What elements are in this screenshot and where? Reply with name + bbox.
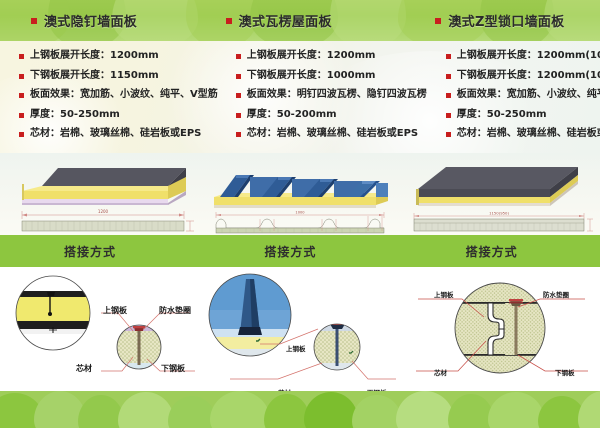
bullet-square-icon xyxy=(19,113,24,118)
footer-leaf-band xyxy=(0,391,600,428)
product-figure-2: 1000 xyxy=(200,153,400,235)
detail-diagram-2 xyxy=(200,267,400,391)
bullet-square-icon xyxy=(446,132,451,137)
label-lower-plate-1: 下钢板 xyxy=(161,363,185,374)
bullet-square-icon xyxy=(236,54,241,59)
spec-item: 上钢板展开长度：1200mm(1000mm) xyxy=(446,48,600,63)
product-title-3: 澳式Z型锁口墙面板 xyxy=(448,11,564,30)
bullet-square-icon xyxy=(446,113,451,118)
spec-text: 板面效果：宽加筋、小波纹、纯平、V型筋 xyxy=(30,87,218,102)
spec-text: 芯材：岩棉、玻璃丝棉、硅岩板或EPS xyxy=(247,126,418,141)
label-washer-3: 防水垫圈 xyxy=(543,289,569,299)
spec-item: 板面效果：宽加筋、小波纹、纯平、V型筋 xyxy=(19,87,218,102)
spec-item: 板面效果：宽加筋、小波纹、纯平、V型筋 xyxy=(446,87,600,102)
bullet-square-icon xyxy=(446,74,451,79)
spec-text: 上钢板展开长度：1200mm xyxy=(247,48,376,63)
product-title-2: 澳式瓦楞屋面板 xyxy=(239,11,332,30)
spec-text: 下钢板展开长度：1000mm xyxy=(247,68,376,83)
panel-3d-corrugated: 1000 xyxy=(200,153,400,235)
lap-method-label-3: 搭接方式 xyxy=(466,243,518,260)
bullet-square-icon xyxy=(236,74,241,79)
bullet-square-icon xyxy=(446,93,451,98)
column-header-1: 澳式隐钉墙面板 xyxy=(0,0,196,41)
spec-list-1: 上钢板展开长度：1200mm 下钢板展开长度：1150mm 板面效果：宽加筋、小… xyxy=(0,41,218,153)
spec-text: 厚度：50-200mm xyxy=(247,107,337,122)
label-core-3: 芯材 xyxy=(434,367,447,377)
spec-item: 芯材：岩棉、玻璃丝棉、硅岩板或EPS xyxy=(236,126,427,141)
spec-text: 下钢板展开长度：1150mm xyxy=(30,68,159,83)
spec-text: 芯材：岩棉、玻璃丝棉、硅岩板或EPS xyxy=(30,126,201,141)
spec-item: 板面效果：明钉四波瓦楞、隐钉四波瓦楞 xyxy=(236,87,427,102)
label-core-1: 芯材 xyxy=(76,363,92,374)
dimension-width-2: 1000 xyxy=(295,211,305,215)
label-upper-plate-2: 上钢板 xyxy=(286,343,306,353)
label-lower-plate-3: 下钢板 xyxy=(555,367,575,377)
panel-3d-zlock: 1150(950) xyxy=(400,153,600,235)
column-header-3: 澳式Z型锁口墙面板 xyxy=(390,0,600,41)
spec-item: 下钢板展开长度：1150mm xyxy=(19,68,218,83)
spec-item: 厚度：50-200mm xyxy=(236,107,427,122)
bullet-square-icon xyxy=(435,18,441,24)
product-title-1: 澳式隐钉墙面板 xyxy=(44,11,137,30)
spec-item: 厚度：50-250mm xyxy=(446,107,600,122)
spec-band: 上钢板展开长度：1200mm 下钢板展开长度：1150mm 板面效果：宽加筋、小… xyxy=(0,41,600,153)
product-figure-1: 1200 xyxy=(0,153,200,235)
bullet-square-icon xyxy=(446,54,451,59)
spec-item: 上钢板展开长度：1200mm xyxy=(236,48,427,63)
bullet-square-icon xyxy=(19,132,24,137)
dimension-width-1: 1200 xyxy=(98,209,109,214)
spec-text: 厚度：50-250mm xyxy=(457,107,547,122)
lap-method-bar: 搭接方式 搭接方式 搭接方式 xyxy=(0,235,600,267)
spec-list-2: 上钢板展开长度：1200mm 下钢板展开长度：1000mm 板面效果：明钉四波瓦… xyxy=(218,41,427,153)
spec-text: 下钢板展开长度：1200mm(1000mm) xyxy=(457,68,600,83)
product-figure-3: 1150(950) xyxy=(400,153,600,235)
detail-figure-2: 上钢板 芯材 下钢板 xyxy=(200,267,400,391)
detail-figure-1: 上钢板 防水垫圈 芯材 下钢板 xyxy=(0,267,200,391)
detail-figure-3: 上钢板 防水垫圈 芯材 下钢板 xyxy=(400,267,600,391)
bullet-square-icon xyxy=(19,54,24,59)
spec-item: 下钢板展开长度：1200mm(1000mm) xyxy=(446,68,600,83)
bullet-square-icon xyxy=(19,93,24,98)
dimension-width-3: 1150(950) xyxy=(489,211,509,216)
spec-text: 厚度：50-250mm xyxy=(30,107,120,122)
label-upper-plate-3: 上钢板 xyxy=(434,289,454,299)
spec-text: 板面效果：明钉四波瓦楞、隐钉四波瓦楞 xyxy=(247,87,427,102)
spec-item: 厚度：50-250mm xyxy=(19,107,218,122)
product-spec-poster: 澳式隐钉墙面板 澳式瓦楞屋面板 澳式Z型锁口墙面板 上钢板展开长度：1200mm… xyxy=(0,0,600,428)
product-image-band: 1200 xyxy=(0,153,600,235)
lap-method-label-2: 搭接方式 xyxy=(264,243,316,260)
header-band: 澳式隐钉墙面板 澳式瓦楞屋面板 澳式Z型锁口墙面板 xyxy=(0,0,600,41)
bullet-square-icon xyxy=(31,18,37,24)
lap-label-cell-2: 搭接方式 xyxy=(198,243,398,260)
detail-band: 上钢板 防水垫圈 芯材 下钢板 xyxy=(0,267,600,391)
bullet-square-icon xyxy=(226,18,232,24)
bullet-square-icon xyxy=(236,132,241,137)
lap-method-label-1: 搭接方式 xyxy=(64,243,116,260)
spec-item: 芯材：岩棉、玻璃丝棉、硅岩板或EPS xyxy=(19,126,218,141)
spec-item: 芯材：岩棉、玻璃丝棉、硅岩板或EPS xyxy=(446,126,600,141)
panel-3d-flat: 1200 xyxy=(0,153,200,235)
spec-text: 芯材：岩棉、玻璃丝棉、硅岩板或EPS xyxy=(457,126,600,141)
label-washer-1: 防水垫圈 xyxy=(159,305,191,316)
spec-text: 上钢板展开长度：1200mm xyxy=(30,48,159,63)
spec-text: 上钢板展开长度：1200mm(1000mm) xyxy=(457,48,600,63)
lap-label-cell-1: 搭接方式 xyxy=(0,243,198,260)
label-upper-plate-1: 上钢板 xyxy=(103,305,127,316)
bullet-square-icon xyxy=(19,74,24,79)
spec-list-3: 上钢板展开长度：1200mm(1000mm) 下钢板展开长度：1200mm(10… xyxy=(427,41,600,153)
spec-text: 板面效果：宽加筋、小波纹、纯平、V型筋 xyxy=(457,87,600,102)
column-header-2: 澳式瓦楞屋面板 xyxy=(196,0,391,41)
bullet-square-icon xyxy=(236,113,241,118)
bullet-square-icon xyxy=(236,93,241,98)
spec-item: 下钢板展开长度：1000mm xyxy=(236,68,427,83)
spec-item: 上钢板展开长度：1200mm xyxy=(19,48,218,63)
lap-label-cell-3: 搭接方式 xyxy=(399,243,600,260)
